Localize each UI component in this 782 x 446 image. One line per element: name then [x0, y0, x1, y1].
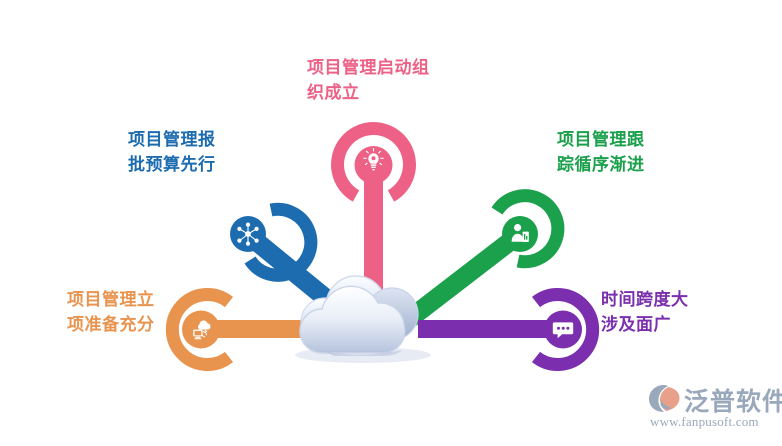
watermark-url: www.fanpusoft.com [650, 414, 759, 430]
node-left-label: 项目管理立 项准备充分 [67, 288, 155, 337]
watermark: 泛普软件 www.fanpusoft.com [648, 381, 778, 439]
node-upper-right-label: 项目管理跟 踪循序渐进 [557, 128, 645, 177]
spoke-upper-right [408, 233, 521, 320]
infographic-canvas: 项目管理启动组 织成立 项目管理报 批预算先行 项目管理跟 踪循序渐进 项目管理… [0, 0, 782, 446]
node-right-label: 时间跨度大 涉及面广 [601, 288, 689, 337]
node-center-label: 项目管理启动组 织成立 [307, 56, 430, 105]
spoke-right [418, 320, 558, 338]
fanpu-swoosh-logo-icon [648, 383, 682, 413]
watermark-brand: 泛普软件 [684, 382, 782, 418]
node-upper-left-label: 项目管理报 批预算先行 [128, 128, 216, 177]
icon-disc-upper-right [502, 216, 538, 252]
node-right[interactable] [536, 295, 593, 365]
